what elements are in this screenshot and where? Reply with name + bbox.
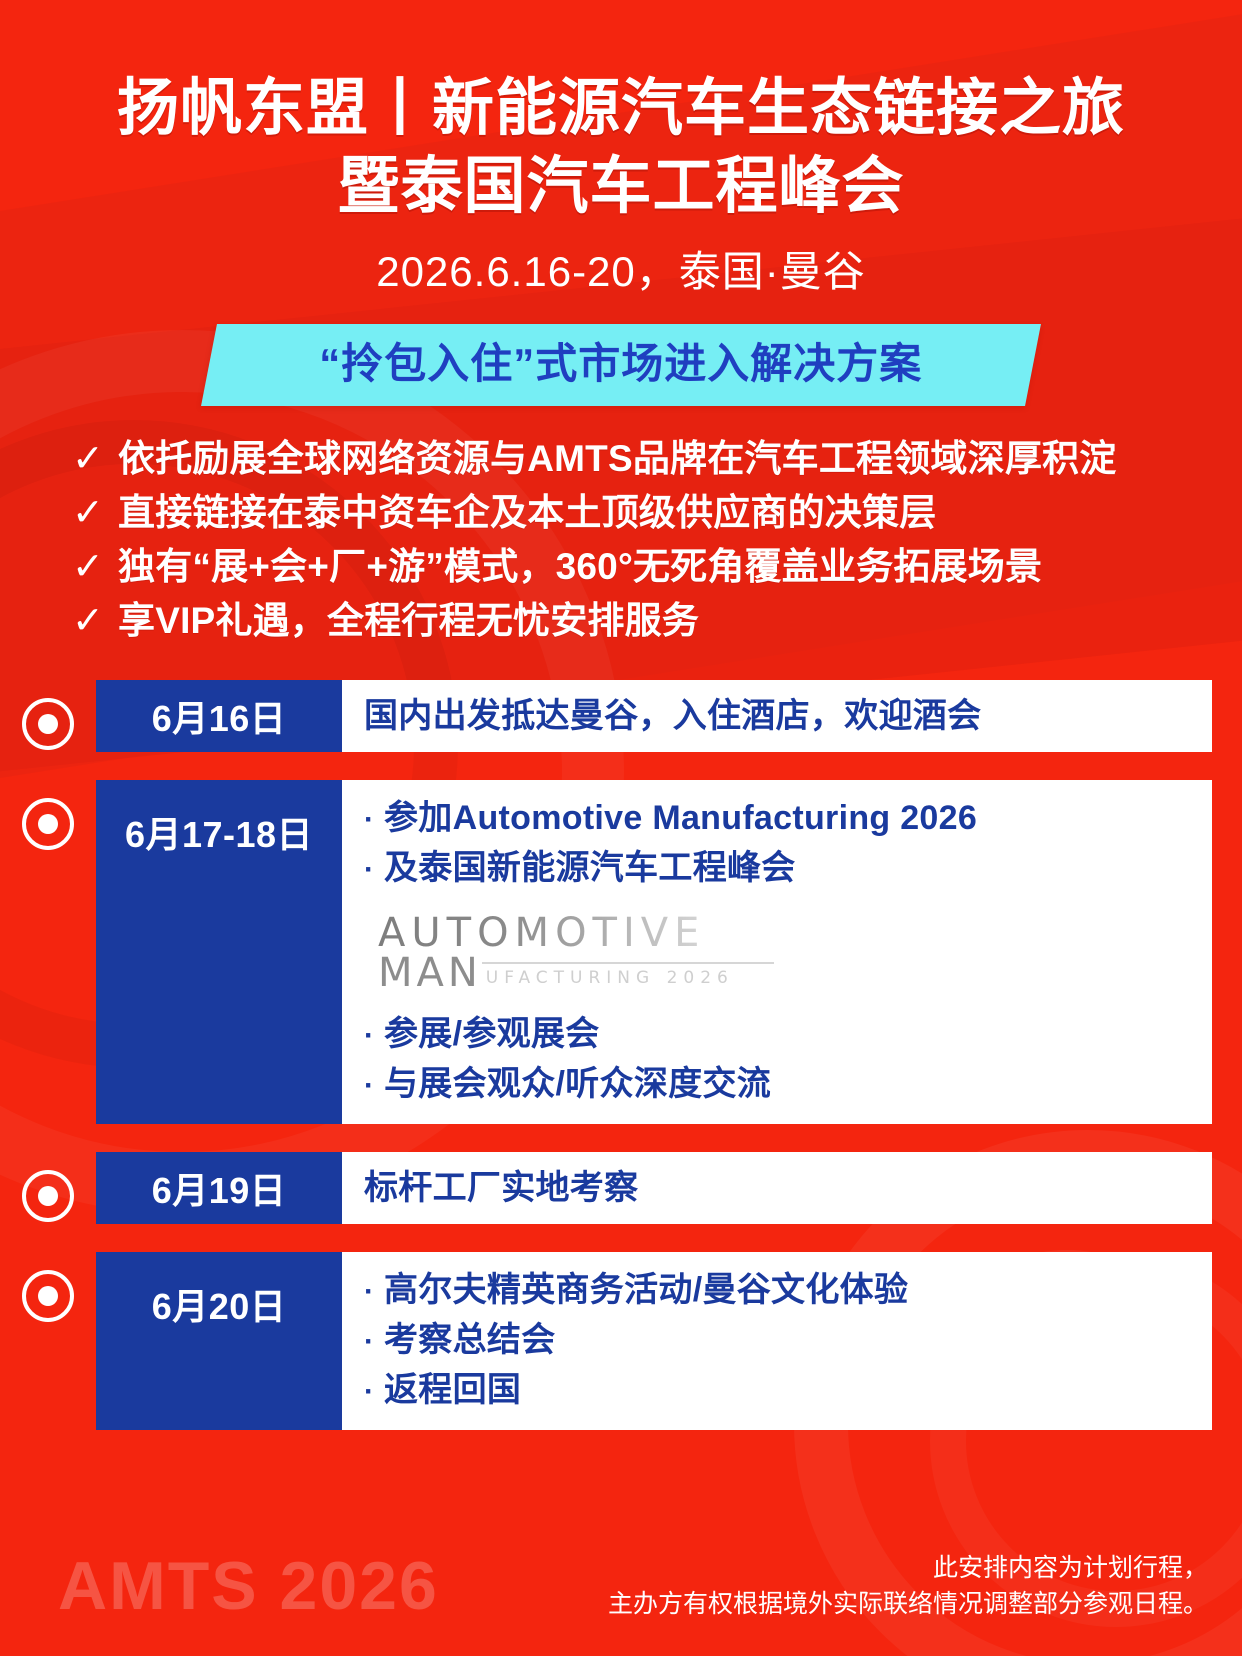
timeline-date: 6月20日 bbox=[96, 1252, 342, 1430]
timeline-list-item-label: 返程回国 bbox=[384, 1366, 521, 1414]
poster-header: 扬帆东盟丨新能源汽车生态链接之旅 暨泰国汽车工程峰会 2026.6.16-20，… bbox=[0, 0, 1242, 300]
timeline-list-item-label: 高尔夫精英商务活动/曼谷文化体验 bbox=[384, 1266, 908, 1314]
timeline-list-item: · 返程回国 bbox=[364, 1366, 1194, 1416]
timeline-list-item: · 参加Automotive Manufacturing 2026 bbox=[364, 794, 1194, 844]
bullet-dot-icon: · bbox=[364, 1012, 384, 1060]
timeline-body: · 高尔夫精英商务活动/曼谷文化体验 · 考察总结会 · 返程回国 bbox=[342, 1252, 1212, 1430]
check-icon: ✓ bbox=[72, 542, 118, 592]
circle-marker-icon bbox=[22, 1170, 74, 1222]
page-title-line-2: 暨泰国汽车工程峰会 bbox=[0, 150, 1242, 224]
timeline-body: 标杆工厂实地考察 bbox=[342, 1152, 1212, 1224]
highlight-banner-wrap: “拎包入住”式市场进入解决方案 bbox=[0, 324, 1242, 406]
timeline-date: 6月16日 bbox=[96, 680, 342, 752]
disclaimer-line-1: 此安排内容为计划行程， bbox=[608, 1550, 1208, 1586]
timeline-list-item-label: 与展会观众/听众深度交流 bbox=[384, 1060, 771, 1108]
logo-bottom-row: MAN UFACTURING 2026 bbox=[378, 952, 774, 994]
timeline-date: 6月19日 bbox=[96, 1152, 342, 1224]
timeline-row: 6月17-18日 · 参加Automotive Manufacturing 20… bbox=[0, 780, 1212, 1124]
automotive-manufacturing-logo: AUTOMOTIVE MAN UFACTURING 2026 bbox=[378, 912, 774, 994]
checklist-item: ✓ 依托励展全球网络资源与AMTS品牌在汽车工程领域深厚积淀 bbox=[72, 434, 1216, 484]
itinerary-timeline: 6月16日 国内出发抵达曼谷，入住酒店，欢迎酒会 6月17-18日 · 参加Au… bbox=[0, 680, 1242, 1430]
benefits-checklist: ✓ 依托励展全球网络资源与AMTS品牌在汽车工程领域深厚积淀 ✓ 直接链接在泰中… bbox=[0, 434, 1242, 646]
timeline-row: 6月20日 · 高尔夫精英商务活动/曼谷文化体验 · 考察总结会 · 返程回国 bbox=[0, 1252, 1212, 1430]
timeline-list-item-label: 参加Automotive Manufacturing 2026 bbox=[384, 794, 977, 842]
timeline-card: 6月19日 标杆工厂实地考察 bbox=[96, 1152, 1212, 1224]
timeline-list-item-label: 及泰国新能源汽车工程峰会 bbox=[384, 844, 796, 892]
timeline-marker bbox=[0, 1152, 96, 1222]
checklist-item: ✓ 享VIP礼遇，全程行程无忧安排服务 bbox=[72, 596, 1216, 646]
poster-root: 扬帆东盟丨新能源汽车生态链接之旅 暨泰国汽车工程峰会 2026.6.16-20，… bbox=[0, 0, 1242, 1656]
bullet-dot-icon: · bbox=[364, 1062, 384, 1110]
timeline-list-item: · 及泰国新能源汽车工程峰会 bbox=[364, 844, 1194, 894]
timeline-card: 6月16日 国内出发抵达曼谷，入住酒店，欢迎酒会 bbox=[96, 680, 1212, 752]
timeline-description: 国内出发抵达曼谷，入住酒店，欢迎酒会 bbox=[364, 694, 1194, 738]
bullet-dot-icon: · bbox=[364, 796, 384, 844]
timeline-list-item: · 考察总结会 bbox=[364, 1316, 1194, 1366]
checklist-item: ✓ 独有“展+会+厂+游”模式，360°无死角覆盖业务拓展场景 bbox=[72, 542, 1216, 592]
timeline-marker bbox=[0, 680, 96, 750]
bullet-dot-icon: · bbox=[364, 1268, 384, 1316]
circle-marker-icon bbox=[22, 798, 74, 850]
bullet-dot-icon: · bbox=[364, 846, 384, 894]
logo-top-text: AUTOMOTIVE bbox=[378, 912, 774, 954]
timeline-list-item: · 与展会观众/听众深度交流 bbox=[364, 1060, 1194, 1110]
timeline-marker bbox=[0, 780, 96, 850]
disclaimer: 此安排内容为计划行程， 主办方有权根据境外实际联络情况调整部分参观日程。 bbox=[608, 1550, 1208, 1622]
check-icon: ✓ bbox=[72, 596, 118, 646]
logo-bottom-rest-text: UFACTURING 2026 bbox=[482, 962, 774, 994]
timeline-row: 6月19日 标杆工厂实地考察 bbox=[0, 1152, 1212, 1224]
circle-marker-icon bbox=[22, 1270, 74, 1322]
timeline-date: 6月17-18日 bbox=[96, 780, 342, 1124]
timeline-body: 国内出发抵达曼谷，入住酒店，欢迎酒会 bbox=[342, 680, 1212, 752]
disclaimer-line-2: 主办方有权根据境外实际联络情况调整部分参观日程。 bbox=[608, 1586, 1208, 1622]
highlight-banner-text: “拎包入住”式市场进入解决方案 bbox=[320, 338, 923, 390]
timeline-card: 6月17-18日 · 参加Automotive Manufacturing 20… bbox=[96, 780, 1212, 1124]
timeline-marker bbox=[0, 1252, 96, 1322]
timeline-row: 6月16日 国内出发抵达曼谷，入住酒店，欢迎酒会 bbox=[0, 680, 1212, 752]
checklist-item-label: 直接链接在泰中资车企及本土顶级供应商的决策层 bbox=[118, 488, 936, 538]
checklist-item: ✓ 直接链接在泰中资车企及本土顶级供应商的决策层 bbox=[72, 488, 1216, 538]
checklist-item-label: 依托励展全球网络资源与AMTS品牌在汽车工程领域深厚积淀 bbox=[118, 434, 1116, 484]
bullet-dot-icon: · bbox=[364, 1368, 384, 1416]
timeline-list-item: · 高尔夫精英商务活动/曼谷文化体验 bbox=[364, 1266, 1194, 1316]
event-date-location: 2026.6.16-20，泰国·曼谷 bbox=[0, 244, 1242, 300]
logo-bottom-main-text: MAN bbox=[378, 952, 482, 994]
timeline-body: · 参加Automotive Manufacturing 2026 · 及泰国新… bbox=[342, 780, 1212, 1124]
timeline-list-item-label: 参展/参观展会 bbox=[384, 1010, 600, 1058]
amts-watermark: AMTS 2026 bbox=[58, 1550, 439, 1622]
checklist-item-label: 独有“展+会+厂+游”模式，360°无死角覆盖业务拓展场景 bbox=[118, 542, 1042, 592]
checklist-item-label: 享VIP礼遇，全程行程无忧安排服务 bbox=[118, 596, 699, 646]
timeline-card: 6月20日 · 高尔夫精英商务活动/曼谷文化体验 · 考察总结会 · 返程回国 bbox=[96, 1252, 1212, 1430]
highlight-banner: “拎包入住”式市场进入解决方案 bbox=[201, 324, 1041, 406]
poster-footer: AMTS 2026 此安排内容为计划行程， 主办方有权根据境外实际联络情况调整部… bbox=[0, 1550, 1242, 1622]
timeline-list-item-label: 考察总结会 bbox=[384, 1316, 556, 1364]
circle-marker-icon bbox=[22, 698, 74, 750]
check-icon: ✓ bbox=[72, 434, 118, 484]
timeline-list-item: · 参展/参观展会 bbox=[364, 1010, 1194, 1060]
bullet-dot-icon: · bbox=[364, 1318, 384, 1366]
page-title-line-1: 扬帆东盟丨新能源汽车生态链接之旅 bbox=[0, 72, 1242, 146]
timeline-description: 标杆工厂实地考察 bbox=[364, 1166, 1194, 1210]
check-icon: ✓ bbox=[72, 488, 118, 538]
